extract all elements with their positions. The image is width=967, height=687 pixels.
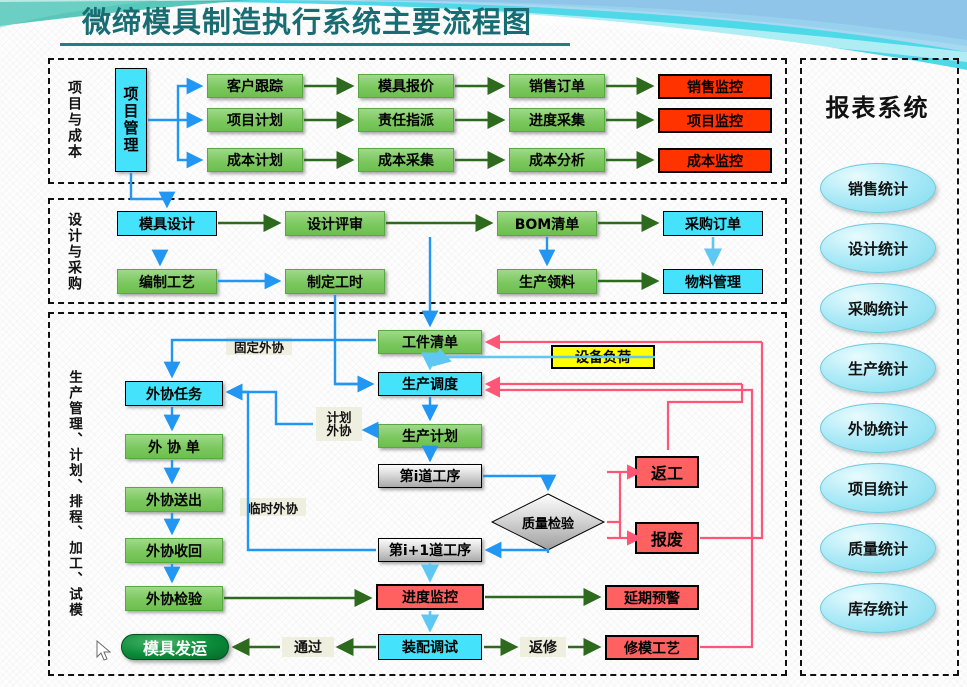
edge-label-pass: 通过 [282,637,334,657]
node-project-plan[interactable]: 项目计划 [207,108,303,132]
node-outsourcing-inspect[interactable]: 外协检验 [125,586,223,611]
node-sales-monitor[interactable]: 销售监控 [658,74,772,99]
node-outsourcing-send[interactable]: 外协送出 [125,487,223,512]
node-mold-repair-process[interactable]: 修模工艺 [605,635,699,660]
node-cost-plan[interactable]: 成本计划 [207,148,303,172]
node-cost-analysis[interactable]: 成本分析 [509,148,605,172]
edge-label-temporary-outsourcing: 临时外协 [240,498,306,516]
node-cost-collection[interactable]: 成本采集 [358,148,454,172]
node-quality-inspection[interactable]: 质量检验 [490,493,606,551]
page-title: 微缔模具制造执行系统主要流程图 [82,2,602,42]
mouse-cursor-icon [96,640,114,662]
node-progress-collection[interactable]: 进度采集 [509,108,605,132]
node-design-review[interactable]: 设计评审 [285,211,385,236]
report-item-purchase[interactable]: 采购统计 [820,283,936,333]
panel-project-cost-label: 项目与成本 [61,72,81,168]
node-process-step-i-plus-1[interactable]: 第i+1道工序 [378,538,482,562]
node-production-picking[interactable]: 生产领料 [497,269,597,294]
node-rework[interactable]: 返工 [635,456,699,488]
report-item-design[interactable]: 设计统计 [820,223,936,273]
node-purchase-order[interactable]: 采购订单 [663,211,763,236]
node-process-compile[interactable]: 编制工艺 [117,269,217,294]
node-equipment-load[interactable]: 设备负荷 [551,345,655,369]
node-production-dispatch[interactable]: 生产调度 [378,372,482,396]
node-responsibility-assign[interactable]: 责任指派 [358,108,454,132]
node-process-step-i[interactable]: 第i道工序 [378,464,482,488]
node-project-monitor[interactable]: 项目监控 [658,108,772,133]
node-cost-monitor[interactable]: 成本监控 [658,148,772,173]
report-item-project[interactable]: 项目统计 [820,463,936,513]
title-underline [60,43,570,46]
node-outsourcing-task[interactable]: 外协任务 [125,381,223,406]
node-mold-shipment[interactable]: 模具发运 [121,634,229,660]
edge-label-repair: 返修 [520,637,566,657]
edge-label-planned-outsourcing: 计划 外协 [316,407,362,441]
node-quality-inspection-label: 质量检验 [490,493,606,551]
node-scrap[interactable]: 报废 [635,522,699,554]
node-work-hour-set[interactable]: 制定工时 [285,269,385,294]
edge-label-fixed-outsourcing: 固定外协 [226,337,292,355]
report-item-sales[interactable]: 销售统计 [820,163,936,213]
node-mold-quotation[interactable]: 模具报价 [358,74,454,98]
report-item-production[interactable]: 生产统计 [820,343,936,393]
node-material-management[interactable]: 物料管理 [663,269,763,294]
panel-design-purchase-label: 设计与采购 [61,212,81,292]
node-outsourcing-order[interactable]: 外 协 单 [125,434,223,459]
node-assembly-debug[interactable]: 装配调试 [378,634,482,660]
node-progress-monitor[interactable]: 进度监控 [376,584,484,610]
node-mold-design[interactable]: 模具设计 [117,211,217,236]
edge-label-planned-outsourcing-line2: 外协 [326,424,351,437]
panel-production-label: 生产管理、计划、排程、加工、试模 [61,324,81,664]
node-outsourcing-receive[interactable]: 外协收回 [125,538,223,563]
node-customer-tracking[interactable]: 客户跟踪 [207,74,303,98]
node-production-plan[interactable]: 生产计划 [378,424,482,448]
node-bom-list[interactable]: BOM清单 [497,211,597,236]
node-workpiece-list[interactable]: 工件清单 [378,330,482,354]
report-item-inventory[interactable]: 库存统计 [820,583,936,633]
report-item-outsourcing[interactable]: 外协统计 [820,403,936,453]
node-delay-warning[interactable]: 延期预警 [605,585,699,610]
node-project-management[interactable]: 项目管理 [115,68,147,172]
report-item-quality[interactable]: 质量统计 [820,523,936,573]
node-sales-order[interactable]: 销售订单 [509,74,605,98]
report-system-title: 报表系统 [800,88,955,123]
